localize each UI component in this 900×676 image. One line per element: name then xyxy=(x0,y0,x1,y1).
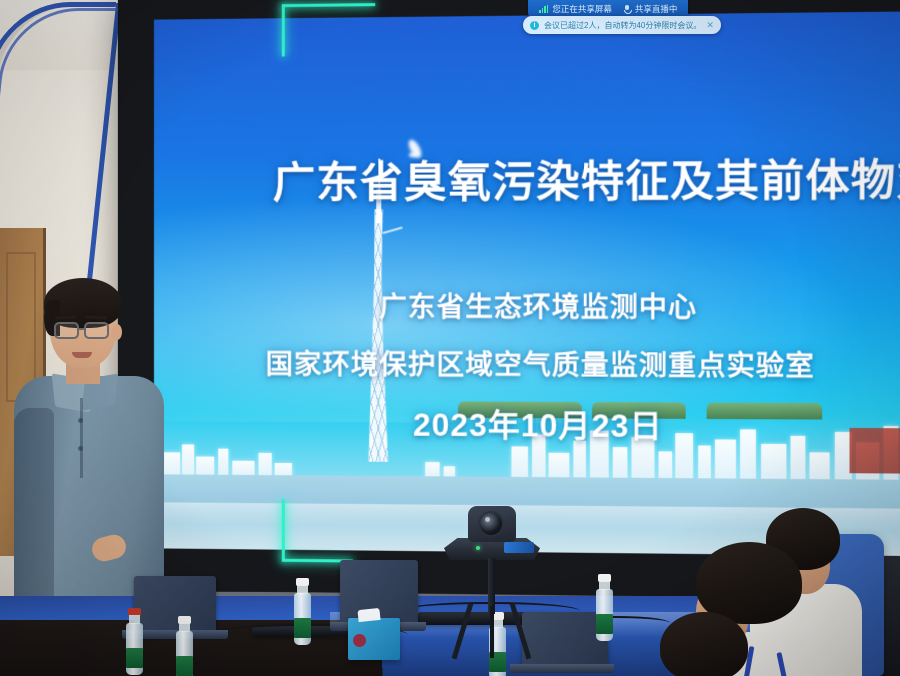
eyeglasses-icon xyxy=(84,322,109,339)
bezel-led-accent xyxy=(282,3,375,7)
tripod-leg xyxy=(452,603,474,660)
slide-laboratory: 国家环境保护区域空气质量监测重点实验室 xyxy=(154,342,900,384)
toast-message: 会议已超过2人，自动转为40分钟限时会议。 xyxy=(544,20,701,31)
conference-room-scene: 广东省臭氧污染特征及其前体物对 广东省生态环境监测中心 国家环境保护区域空气质量… xyxy=(0,0,900,676)
sharing-screen-status: 您正在共享屏幕 xyxy=(539,3,612,15)
signal-bars-icon xyxy=(539,5,548,13)
meeting-toast[interactable]: i 会议已超过2人，自动转为40分钟限时会议。 ✕ xyxy=(523,16,721,34)
live-label: 共享直播中 xyxy=(635,3,678,15)
camera-status-led xyxy=(476,546,480,550)
bezel-led-accent xyxy=(282,499,285,561)
ptz-conference-camera xyxy=(438,506,544,656)
display-screen: 广东省臭氧污染特征及其前体物对 广东省生态环境监测中心 国家环境保护区域空气质量… xyxy=(154,11,900,556)
presenter-mouth xyxy=(72,352,92,358)
bezel-led-accent xyxy=(282,4,285,56)
close-icon[interactable]: ✕ xyxy=(706,21,714,30)
camera-lens-icon xyxy=(480,513,502,535)
tissue-box xyxy=(348,618,400,660)
tissue-box-logo xyxy=(353,634,366,647)
eyeglasses-icon xyxy=(54,322,79,339)
live-status: 共享直播中 xyxy=(623,3,678,15)
slide-title: 广东省臭氧污染特征及其前体物对 xyxy=(273,144,900,210)
tower-antenna xyxy=(382,227,402,235)
presenter-arm xyxy=(14,408,54,618)
slide-organization: 广东省生态环境监测中心 xyxy=(154,285,900,325)
presenter-placket xyxy=(80,398,83,478)
tripod-leg xyxy=(490,606,494,658)
audience-member xyxy=(660,612,770,676)
tripod-leg xyxy=(510,603,532,660)
screen-share-bar[interactable]: 您正在共享屏幕 共享直播中 xyxy=(528,0,688,17)
slide-date: 2023年10月23日 xyxy=(154,398,900,448)
info-icon: i xyxy=(530,21,539,30)
eyeglasses-bridge xyxy=(78,328,86,330)
tissue-sheet xyxy=(357,608,380,622)
sharing-screen-label: 您正在共享屏幕 xyxy=(552,3,612,15)
camera-blue-accent xyxy=(504,542,534,553)
microphone-icon xyxy=(623,5,631,13)
presenter-ear xyxy=(112,324,122,340)
slide-canvas: 广东省臭氧污染特征及其前体物对 广东省生态环境监测中心 国家环境保护区域空气质量… xyxy=(154,11,900,556)
